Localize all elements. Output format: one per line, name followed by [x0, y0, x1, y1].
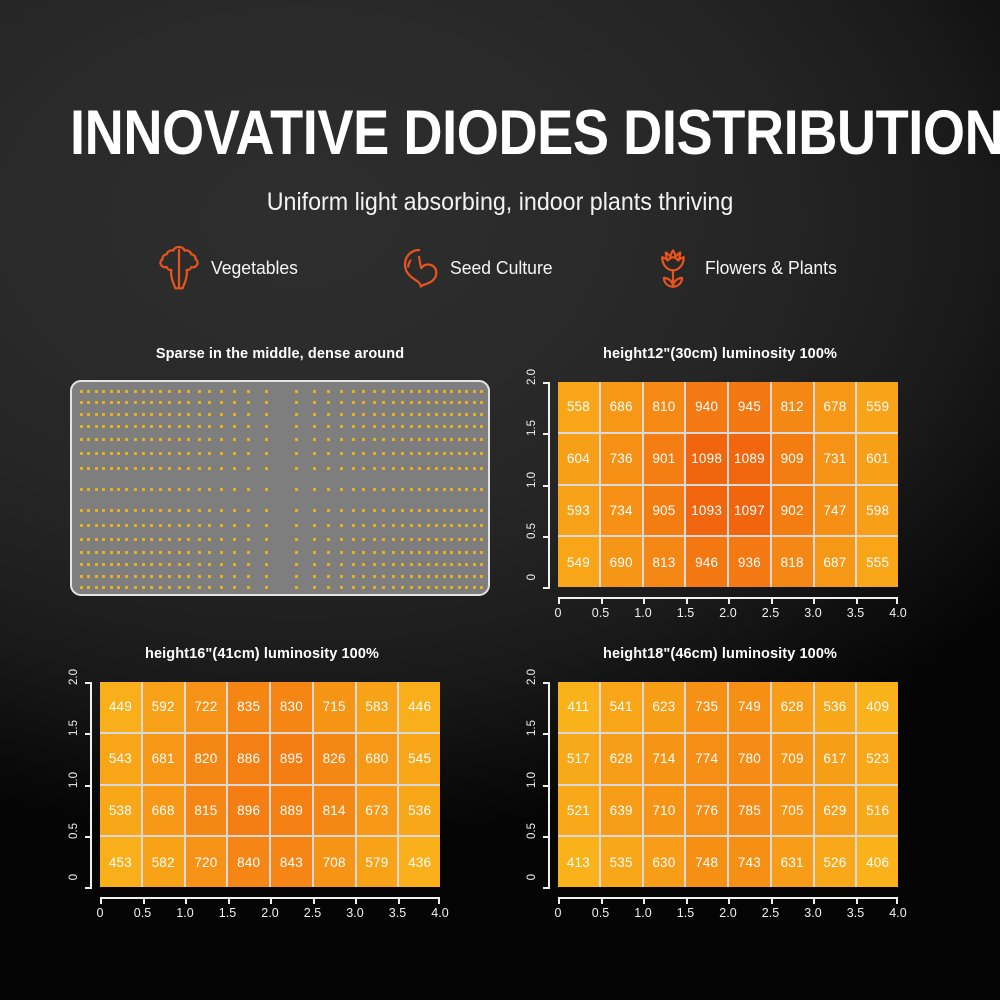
- led-diode: [142, 467, 145, 470]
- led-diode: [125, 401, 128, 404]
- led-diode: [465, 538, 468, 541]
- led-diode: [327, 413, 330, 416]
- led-diode: [450, 438, 453, 441]
- led-diode: [313, 575, 316, 578]
- led-diode: [168, 401, 171, 404]
- heatmap-cell: 815: [186, 786, 227, 836]
- led-diode: [313, 586, 316, 589]
- led-diode: [401, 452, 404, 455]
- led-diode: [102, 425, 105, 428]
- led-diode: [102, 524, 105, 527]
- heatmap-cell: 820: [186, 734, 227, 784]
- led-diode: [150, 586, 153, 589]
- led-diode: [178, 586, 181, 589]
- led-diode: [87, 452, 90, 455]
- led-diode: [435, 467, 438, 470]
- led-diode: [208, 524, 211, 527]
- heatmap-cell: 631: [772, 837, 813, 887]
- led-diode: [327, 586, 330, 589]
- led-diode: [117, 401, 120, 404]
- x-tick: [771, 897, 773, 904]
- led-diode: [134, 586, 137, 589]
- led-diode: [208, 509, 211, 512]
- chart-title: height16"(41cm) luminosity 100%: [42, 646, 482, 662]
- led-diode: [247, 586, 250, 589]
- led-diode: [427, 551, 430, 554]
- led-diode: [392, 563, 395, 566]
- led-diode: [313, 425, 316, 428]
- led-diode: [313, 401, 316, 404]
- led-diode: [87, 390, 90, 393]
- led-diode: [125, 425, 128, 428]
- led-diode: [187, 467, 190, 470]
- led-diode: [382, 488, 385, 491]
- heatmap-cell: 708: [314, 837, 355, 887]
- led-diode: [410, 413, 413, 416]
- x-tick: [601, 597, 603, 604]
- led-diode: [134, 538, 137, 541]
- led-diode: [473, 452, 476, 455]
- heatmap-cell: 446: [399, 682, 440, 732]
- led-diode: [247, 551, 250, 554]
- heatmap-cell: 601: [857, 434, 898, 484]
- led-diode: [465, 390, 468, 393]
- led-diode: [295, 401, 298, 404]
- heatmap-cell: 826: [314, 734, 355, 784]
- led-diode: [178, 509, 181, 512]
- led-diode: [150, 524, 153, 527]
- x-tick: [438, 897, 440, 904]
- led-diode: [220, 425, 223, 428]
- led-diode: [401, 413, 404, 416]
- x-tick-label: 0.5: [592, 606, 609, 620]
- led-diode: [443, 551, 446, 554]
- led-diode: [373, 413, 376, 416]
- feature-item-flowers-plants: Flowers & Plants: [650, 243, 844, 293]
- led-diode: [220, 586, 223, 589]
- led-diode: [465, 438, 468, 441]
- heatmap-cell: 776: [686, 786, 727, 836]
- led-diode: [450, 467, 453, 470]
- led-diode: [327, 563, 330, 566]
- led-diode: [102, 538, 105, 541]
- led-diode: [125, 509, 128, 512]
- led-diode: [465, 425, 468, 428]
- led-diode: [247, 467, 250, 470]
- led-diode: [198, 425, 201, 428]
- led-diode: [265, 538, 268, 541]
- led-diode: [220, 413, 223, 416]
- led-diode: [401, 467, 404, 470]
- led-diode: [125, 551, 128, 554]
- heatmap-cell: 545: [399, 734, 440, 784]
- x-tick-label: 0.5: [592, 906, 609, 920]
- led-diode: [80, 488, 83, 491]
- led-diode: [110, 509, 113, 512]
- heatmap-plot-area: 4495927228358307155834465436818208868958…: [100, 682, 440, 887]
- led-diode: [168, 413, 171, 416]
- led-diode: [352, 563, 355, 566]
- heatmap-cell: 604: [558, 434, 599, 484]
- led-diode: [392, 509, 395, 512]
- led-diode: [362, 438, 365, 441]
- led-diode: [418, 488, 421, 491]
- feature-item-vegetables: Vegetables: [156, 243, 303, 293]
- led-diode: [382, 551, 385, 554]
- led-diode: [480, 425, 483, 428]
- led-diode: [458, 575, 461, 578]
- led-diode: [150, 509, 153, 512]
- led-diode: [134, 390, 137, 393]
- led-diode: [340, 467, 343, 470]
- led-diode: [435, 538, 438, 541]
- led-diode: [443, 509, 446, 512]
- led-diode: [410, 425, 413, 428]
- led-diode: [134, 524, 137, 527]
- x-tick-label: 0.5: [134, 906, 151, 920]
- led-diode: [80, 586, 83, 589]
- led-diode: [465, 586, 468, 589]
- led-diode: [125, 586, 128, 589]
- led-diode: [450, 413, 453, 416]
- led-diode: [382, 401, 385, 404]
- led-diode: [110, 452, 113, 455]
- led-diode: [80, 538, 83, 541]
- led-diode: [233, 390, 236, 393]
- led-diode: [450, 586, 453, 589]
- led-panel-block: Sparse in the middle, dense around: [60, 346, 500, 606]
- led-diode: [458, 509, 461, 512]
- led-diode: [265, 467, 268, 470]
- led-diode: [427, 488, 430, 491]
- led-diode: [313, 563, 316, 566]
- heatmap-cell: 687: [815, 537, 856, 587]
- heatmap-cell: 810: [644, 382, 685, 432]
- led-diode: [247, 390, 250, 393]
- heatmap-cell: 681: [143, 734, 184, 784]
- led-diode: [401, 401, 404, 404]
- led-diode: [435, 452, 438, 455]
- led-diode: [362, 575, 365, 578]
- heatmap-cell: 715: [314, 682, 355, 732]
- led-diode: [465, 413, 468, 416]
- led-diode: [110, 551, 113, 554]
- led-diode: [95, 488, 98, 491]
- feature-label: Seed Culture: [450, 257, 553, 279]
- led-diode: [117, 509, 120, 512]
- heatmap-cell: 579: [357, 837, 398, 887]
- led-diode: [117, 488, 120, 491]
- led-diode: [208, 401, 211, 404]
- led-diode: [187, 438, 190, 441]
- led-diode: [198, 538, 201, 541]
- x-axis: [558, 597, 898, 599]
- led-diode: [247, 563, 250, 566]
- led-diode: [117, 390, 120, 393]
- led-diode: [102, 438, 105, 441]
- x-tick: [771, 597, 773, 604]
- led-diode: [458, 390, 461, 393]
- led-diode: [178, 575, 181, 578]
- led-diode: [473, 586, 476, 589]
- heatmap-cell: 583: [357, 682, 398, 732]
- led-diode: [265, 413, 268, 416]
- led-diode: [473, 563, 476, 566]
- feature-label: Vegetables: [211, 257, 298, 279]
- led-diode: [110, 586, 113, 589]
- feature-list: VegetablesSeed CultureFlowers & Plants: [0, 243, 1000, 293]
- heatmap-cell: 517: [558, 734, 599, 784]
- led-diode: [458, 401, 461, 404]
- led-diode: [80, 452, 83, 455]
- led-diode: [352, 488, 355, 491]
- led-diode: [373, 524, 376, 527]
- led-diode: [373, 575, 376, 578]
- led-diode: [87, 538, 90, 541]
- led-diode: [340, 563, 343, 566]
- led-diode: [401, 509, 404, 512]
- led-diode: [80, 438, 83, 441]
- led-diode: [458, 438, 461, 441]
- led-diode: [443, 563, 446, 566]
- led-diode: [87, 425, 90, 428]
- x-tick-label: 3.0: [804, 906, 821, 920]
- led-diode: [392, 538, 395, 541]
- heatmap-cell: 630: [644, 837, 685, 887]
- led-diode: [362, 509, 365, 512]
- led-diode: [233, 509, 236, 512]
- led-diode: [443, 488, 446, 491]
- led-diode: [247, 524, 250, 527]
- led-diode: [450, 452, 453, 455]
- led-diode: [117, 551, 120, 554]
- heatmap-cell: 774: [686, 734, 727, 784]
- led-diode: [87, 563, 90, 566]
- led-diode: [159, 524, 162, 527]
- led-diode: [427, 413, 430, 416]
- x-tick-label: 3.5: [847, 906, 864, 920]
- led-diode: [295, 452, 298, 455]
- led-diode: [95, 586, 98, 589]
- led-diode: [168, 509, 171, 512]
- heatmap-cell: 411: [558, 682, 599, 732]
- led-diode: [427, 563, 430, 566]
- led-diode: [102, 413, 105, 416]
- led-diode: [80, 563, 83, 566]
- heatmap-height16-block: height16"(41cm) luminosity 100%00.51.01.…: [42, 646, 482, 908]
- led-diode: [362, 452, 365, 455]
- led-diode: [392, 413, 395, 416]
- heatmap-cell: 413: [558, 837, 599, 887]
- led-diode: [410, 563, 413, 566]
- led-diode: [208, 438, 211, 441]
- led-diode: [110, 488, 113, 491]
- heatmap-cell: 720: [186, 837, 227, 887]
- led-diode: [95, 438, 98, 441]
- led-diode: [473, 425, 476, 428]
- feature-item-seed-culture: Seed Culture: [395, 243, 558, 293]
- led-diode: [352, 586, 355, 589]
- led-diode: [401, 586, 404, 589]
- led-diode: [134, 488, 137, 491]
- heatmap-cell: 1089: [729, 434, 770, 484]
- led-diode: [125, 524, 128, 527]
- heatmap-cell: 593: [558, 486, 599, 536]
- led-diode: [352, 413, 355, 416]
- led-diode: [410, 401, 413, 404]
- led-diode: [435, 563, 438, 566]
- led-diode: [373, 563, 376, 566]
- led-diode: [178, 538, 181, 541]
- led-diode: [247, 438, 250, 441]
- led-diode: [117, 524, 120, 527]
- led-diode: [465, 509, 468, 512]
- led-diode: [178, 551, 181, 554]
- led-diode: [134, 413, 137, 416]
- led-diode: [150, 575, 153, 578]
- led-diode: [110, 425, 113, 428]
- led-diode: [295, 563, 298, 566]
- led-diode: [150, 401, 153, 404]
- led-diode: [410, 467, 413, 470]
- heatmap-cell: 523: [857, 734, 898, 784]
- led-diode: [313, 390, 316, 393]
- led-diode: [352, 452, 355, 455]
- heatmap-cell: 543: [100, 734, 141, 784]
- led-diode: [480, 551, 483, 554]
- led-diode: [233, 488, 236, 491]
- led-diode: [178, 390, 181, 393]
- led-diode: [410, 524, 413, 527]
- led-diode: [382, 390, 385, 393]
- heatmap-cell: 895: [271, 734, 312, 784]
- led-diode: [233, 401, 236, 404]
- led-diode: [233, 438, 236, 441]
- led-diode: [443, 425, 446, 428]
- led-diode: [233, 467, 236, 470]
- x-tick: [896, 597, 898, 604]
- led-diode: [450, 509, 453, 512]
- heatmap-grid: 4115416237357496285364095176287147747807…: [558, 682, 898, 887]
- led-diode: [382, 538, 385, 541]
- led-diode: [458, 467, 461, 470]
- led-diode: [458, 488, 461, 491]
- led-diode: [340, 390, 343, 393]
- led-diode: [352, 438, 355, 441]
- heatmap-cell: 946: [686, 537, 727, 587]
- led-diode: [427, 438, 430, 441]
- led-diode: [295, 488, 298, 491]
- led-diode: [150, 438, 153, 441]
- led-diode: [168, 438, 171, 441]
- led-diode: [480, 509, 483, 512]
- led-diode: [168, 452, 171, 455]
- led-diode: [373, 586, 376, 589]
- led-diode: [401, 563, 404, 566]
- led-diode: [117, 563, 120, 566]
- heatmap-cell: 678: [815, 382, 856, 432]
- led-diode: [168, 563, 171, 566]
- x-tick: [355, 897, 357, 904]
- led-diode: [410, 575, 413, 578]
- led-diode: [125, 575, 128, 578]
- led-diode: [418, 509, 421, 512]
- led-diode: [295, 575, 298, 578]
- led-diode: [208, 413, 211, 416]
- x-tick-label: 2.0: [719, 906, 736, 920]
- x-tick-label: 1.5: [677, 606, 694, 620]
- led-diode: [102, 488, 105, 491]
- led-diode: [458, 551, 461, 554]
- led-diode: [480, 413, 483, 416]
- x-tick-label: 0: [97, 906, 104, 920]
- led-diode: [450, 390, 453, 393]
- led-diode: [187, 586, 190, 589]
- led-diode: [265, 575, 268, 578]
- led-diode: [233, 538, 236, 541]
- led-diode: [473, 413, 476, 416]
- heatmap-plot-area: 4115416237357496285364095176287147747807…: [558, 682, 898, 887]
- led-diode: [401, 438, 404, 441]
- led-diode: [373, 509, 376, 512]
- x-tick-label: 2.5: [304, 906, 321, 920]
- led-diode: [362, 425, 365, 428]
- led-diode: [198, 586, 201, 589]
- led-diode: [392, 467, 395, 470]
- led-diode: [102, 563, 105, 566]
- led-diode: [168, 586, 171, 589]
- led-diode: [150, 538, 153, 541]
- x-tick-label: 3.5: [847, 606, 864, 620]
- heatmap-cell: 628: [772, 682, 813, 732]
- led-diode: [187, 401, 190, 404]
- led-diode: [134, 509, 137, 512]
- x-tick: [686, 897, 688, 904]
- led-diode: [110, 401, 113, 404]
- heatmap-cell: 747: [815, 486, 856, 536]
- chart-title: height18"(46cm) luminosity 100%: [500, 646, 940, 662]
- led-diode: [373, 538, 376, 541]
- led-diode: [168, 467, 171, 470]
- led-diode: [159, 438, 162, 441]
- heatmap-cell: 749: [729, 682, 770, 732]
- led-diode: [102, 467, 105, 470]
- heatmap-height18-block: height18"(46cm) luminosity 100%00.51.01.…: [500, 646, 940, 908]
- heatmap-cell: 896: [228, 786, 269, 836]
- led-diode: [443, 438, 446, 441]
- led-diode: [117, 586, 120, 589]
- led-diode: [443, 586, 446, 589]
- led-diode: [473, 488, 476, 491]
- led-diode: [392, 488, 395, 491]
- led-diode: [159, 467, 162, 470]
- heatmap-cell: 1098: [686, 434, 727, 484]
- x-tick-label: 0: [555, 606, 562, 620]
- led-diode: [168, 538, 171, 541]
- heatmap-cell: 628: [601, 734, 642, 784]
- x-tick: [143, 897, 145, 904]
- led-diode: [142, 390, 145, 393]
- led-diode: [102, 452, 105, 455]
- led-diode: [95, 538, 98, 541]
- led-diode: [102, 509, 105, 512]
- led-diode: [95, 509, 98, 512]
- x-tick-label: 1.5: [219, 906, 236, 920]
- led-diode: [427, 390, 430, 393]
- x-tick: [813, 897, 815, 904]
- led-diode: [473, 438, 476, 441]
- led-diode: [159, 563, 162, 566]
